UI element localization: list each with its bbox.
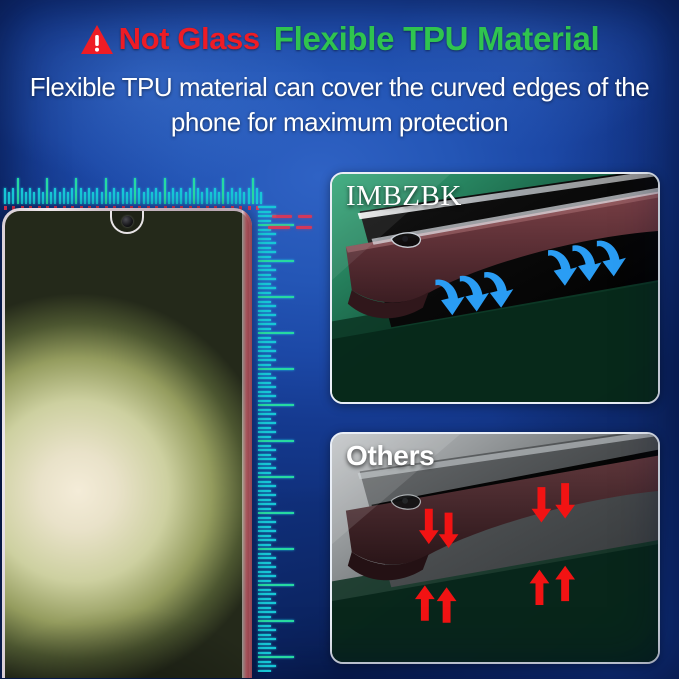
ruler-tick: [258, 490, 271, 492]
ruler-tick: [75, 178, 77, 204]
ruler-tick: [258, 301, 271, 303]
ruler-tick: [21, 188, 23, 204]
ruler-tick: [258, 328, 271, 330]
ruler-tick: [258, 670, 271, 672]
ruler-tick: [151, 192, 153, 204]
ruler-tick: [258, 233, 276, 235]
ruler-tick: [258, 557, 276, 559]
ruler-tick: [258, 607, 271, 609]
ruler-right: [252, 202, 310, 672]
ruler-tick: [164, 178, 166, 204]
ruler-tick: [258, 319, 271, 321]
ruler-tick: [258, 526, 271, 528]
ruler-tick: [258, 440, 294, 442]
ruler-tick: [258, 314, 276, 316]
ruler-tick: [258, 368, 294, 370]
ruler-tick: [258, 391, 271, 393]
ruler-tick: [80, 188, 82, 204]
ruler-tick: [92, 192, 94, 204]
ruler-tick: [258, 485, 276, 487]
ruler-tick: [258, 548, 294, 550]
ruler-tick: [258, 260, 294, 262]
ruler-tick: [258, 283, 271, 285]
ruler-tick: [258, 616, 271, 618]
ruler-tick: [189, 188, 191, 204]
ruler-tick: [17, 178, 19, 204]
ruler-tick: [258, 377, 276, 379]
ruler-tick: [38, 188, 40, 204]
ruler-tick: [210, 192, 212, 204]
page-title: Flexible TPU Material: [274, 22, 600, 55]
ruler-tick: [197, 188, 199, 204]
ruler-tick: [258, 652, 271, 654]
ruler-tick: [134, 178, 136, 204]
ruler-tick: [258, 499, 271, 501]
ruler-tick: [105, 178, 107, 204]
ruler-tick: [258, 274, 271, 276]
not-glass-badge: Not Glass: [119, 23, 260, 54]
ruler-tick: [258, 544, 271, 546]
ruler-tick: [258, 332, 294, 334]
ruler-tick: [258, 418, 271, 420]
phone-with-ruler: [0, 160, 312, 679]
ruler-tick: [258, 206, 276, 208]
title-row: Not Glass Flexible TPU Material: [0, 17, 679, 59]
ruler-tick: [258, 454, 271, 456]
ruler-tick: [258, 386, 276, 388]
ruler-tick: [218, 192, 220, 204]
camera-lens-icon: [122, 216, 133, 227]
film-curved-edge: [242, 208, 252, 678]
ruler-tick: [258, 661, 271, 663]
ruler-tick: [258, 467, 276, 469]
ruler-tick: [130, 188, 132, 204]
ruler-tick: [258, 364, 271, 366]
ruler-tick: [248, 188, 250, 204]
red-measure-dash: [272, 215, 292, 218]
ruler-tick: [185, 192, 187, 204]
ruler-tick: [227, 192, 229, 204]
ruler-tick: [33, 192, 35, 204]
ruler-tick: [67, 192, 69, 204]
ruler-tick: [258, 337, 271, 339]
ruler-tick: [258, 602, 276, 604]
ruler-tick: [231, 188, 233, 204]
ruler-tick: [258, 562, 271, 564]
ruler-tick: [258, 476, 294, 478]
ruler-tick: [88, 188, 90, 204]
ruler-tick: [258, 449, 276, 451]
ruler-tick: [243, 192, 245, 204]
ruler-tick: [258, 521, 276, 523]
ruler-tick: [176, 192, 178, 204]
ruler-tick: [235, 192, 237, 204]
ruler-tick: [42, 192, 44, 204]
others-label: Others: [346, 440, 434, 472]
ruler-tick: [258, 611, 276, 613]
ruler-tick: [258, 359, 276, 361]
ruler-tick: [168, 192, 170, 204]
ruler-tick: [258, 305, 276, 307]
ruler-tick: [214, 188, 216, 204]
ruler-tick: [258, 530, 276, 532]
ruler-tick: [84, 192, 86, 204]
panel-imbzbk: IMBZBK: [330, 172, 660, 404]
ruler-tick: [258, 247, 271, 249]
ruler-tick: [222, 178, 224, 204]
ruler-tick: [258, 413, 276, 415]
warning-triangle-icon: [80, 24, 114, 55]
ruler-tick: [258, 242, 276, 244]
phone-device: [2, 208, 252, 678]
ruler-tick: [96, 188, 98, 204]
ruler-tick: [258, 458, 276, 460]
ruler-tick: [258, 310, 271, 312]
ruler-tick: [258, 638, 276, 640]
ruler-tick: [54, 188, 56, 204]
ruler-tick: [258, 481, 271, 483]
ruler-tick: [258, 634, 271, 636]
ruler-tick: [258, 643, 271, 645]
ruler-tick: [252, 178, 254, 204]
ruler-tick: [258, 445, 271, 447]
red-measure-dash: [298, 215, 312, 218]
header: Not Glass Flexible TPU Material Flexible…: [0, 0, 679, 150]
ruler-tick: [172, 188, 174, 204]
ruler-tick: [258, 220, 271, 222]
ruler-tick: [258, 269, 276, 271]
panel-others: Others: [330, 432, 660, 664]
ruler-tick: [258, 463, 271, 465]
ruler-tick: [117, 192, 119, 204]
product-feature-image: Not Glass Flexible TPU Material Flexible…: [0, 0, 679, 679]
ruler-tick: [258, 539, 276, 541]
ruler-tick: [113, 188, 115, 204]
brand-label: IMBZBK: [346, 180, 462, 213]
ruler-tick: [258, 553, 271, 555]
ruler-tick: [258, 665, 276, 667]
ruler-tick: [258, 422, 276, 424]
ruler-tick: [258, 472, 271, 474]
ruler-tick: [258, 512, 294, 514]
phone-screen: [5, 211, 249, 678]
ruler-tick: [258, 629, 276, 631]
ruler-tick: [258, 350, 276, 352]
ruler-tick: [63, 188, 65, 204]
ruler-tick: [71, 188, 73, 204]
ruler-tick: [258, 625, 271, 627]
ruler-tick: [138, 188, 140, 204]
ruler-tick: [258, 278, 276, 280]
ruler-tick: [4, 188, 6, 204]
ruler-tick: [258, 256, 271, 258]
ruler-tick: [46, 178, 48, 204]
ruler-tick: [258, 598, 271, 600]
ruler-tick: [258, 589, 271, 591]
ruler-tick: [206, 188, 208, 204]
red-measure-dash: [268, 226, 290, 229]
camera-cutout-icon: [110, 211, 144, 234]
ruler-tick: [101, 192, 103, 204]
ruler-tick: [25, 192, 27, 204]
ruler-tick: [258, 382, 271, 384]
ruler-tick: [155, 188, 157, 204]
ruler-tick: [180, 188, 182, 204]
ruler-tick: [12, 188, 14, 204]
ruler-tick: [143, 192, 145, 204]
ruler-tick: [258, 395, 276, 397]
ruler-tick: [193, 178, 195, 204]
ruler-tick: [258, 211, 271, 213]
ruler-tick: [258, 535, 271, 537]
ruler-tick: [258, 431, 276, 433]
ruler-tick: [147, 188, 149, 204]
ruler-tick: [126, 192, 128, 204]
ruler-tick: [59, 192, 61, 204]
ruler-tick: [258, 647, 276, 649]
ruler-tick: [8, 192, 10, 204]
ruler-tick: [258, 265, 271, 267]
ruler-tick: [258, 346, 271, 348]
ruler-tick: [258, 566, 276, 568]
ruler-tick: [258, 400, 271, 402]
ruler-tick: [50, 192, 52, 204]
ruler-tick: [258, 575, 276, 577]
red-measure-dash: [296, 226, 312, 229]
ruler-tick: [258, 341, 276, 343]
ruler-tick: [258, 427, 271, 429]
subtitle: Flexible TPU material can cover the curv…: [14, 70, 665, 139]
ruler-tick: [109, 192, 111, 204]
ruler-tick: [258, 404, 294, 406]
ruler-tick: [258, 580, 271, 582]
ruler-tick: [258, 517, 271, 519]
ruler-tick: [258, 508, 271, 510]
ruler-tick: [258, 292, 271, 294]
ruler-tick: [258, 593, 276, 595]
ruler-tick: [258, 584, 294, 586]
ruler-tick: [258, 494, 276, 496]
ruler-tick: [258, 620, 294, 622]
ruler-tick: [258, 287, 276, 289]
ruler-tick: [201, 192, 203, 204]
ruler-tick: [258, 323, 276, 325]
ruler-tick: [258, 503, 276, 505]
ruler-tick: [239, 188, 241, 204]
ruler-red-tick: [4, 206, 7, 210]
ruler-tick: [258, 251, 276, 253]
ruler-tick: [29, 188, 31, 204]
ruler-tick: [258, 571, 271, 573]
ruler-tick: [258, 373, 271, 375]
ruler-tick: [258, 436, 271, 438]
ruler-tick: [258, 296, 294, 298]
ruler-tick: [122, 188, 124, 204]
ruler-tick: [159, 192, 161, 204]
ruler-tick: [258, 355, 271, 357]
ruler-tick: [258, 656, 294, 658]
ruler-top: [0, 176, 270, 212]
ruler-tick: [258, 409, 271, 411]
ruler-tick: [258, 238, 271, 240]
